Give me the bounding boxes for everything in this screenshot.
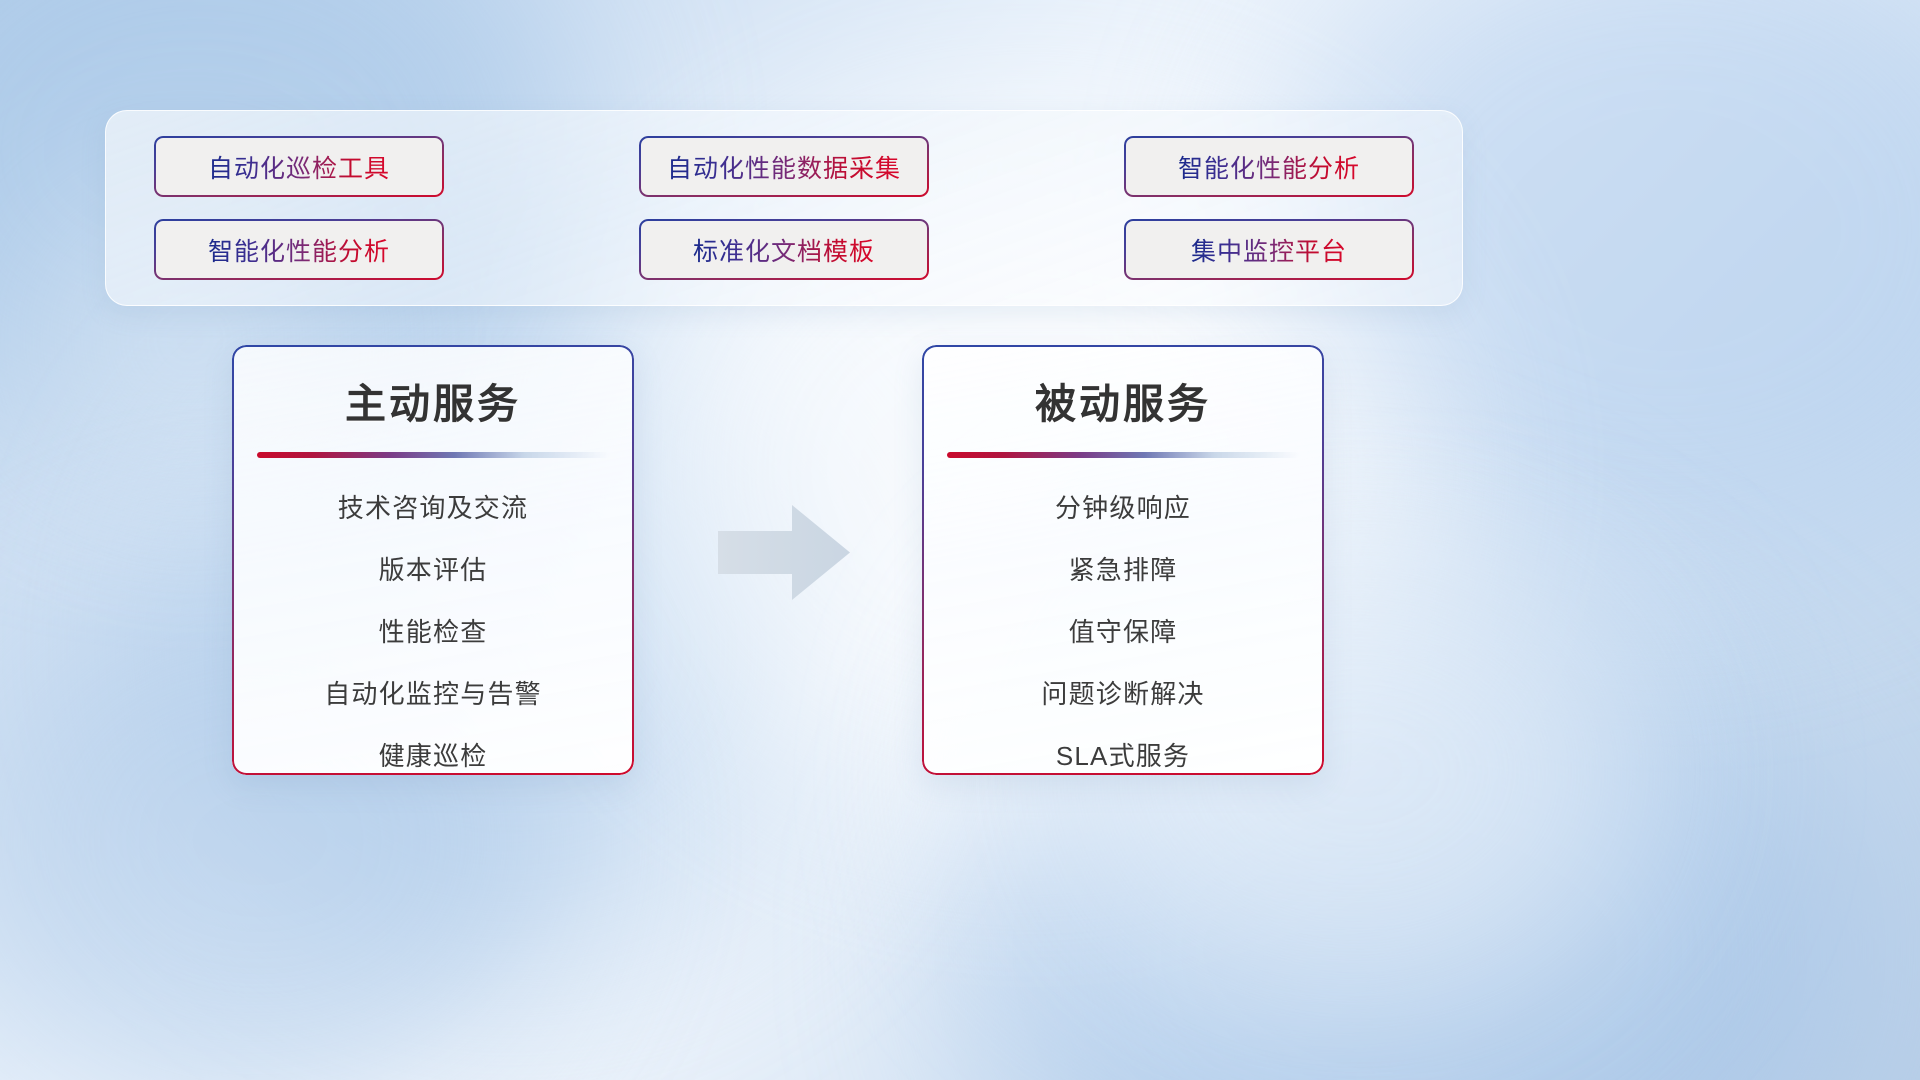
list-item[interactable]: 值守保障	[1069, 612, 1178, 649]
capability-tag-panel: 自动化巡检工具 自动化性能数据采集 智能化性能分析 智能化性能分析 标准化文档模…	[105, 110, 1463, 306]
card-title: 主动服务	[345, 370, 521, 430]
card-item-list: 技术咨询及交流 版本评估 性能检查 自动化监控与告警 健康巡检	[232, 488, 634, 773]
list-item[interactable]: 健康巡检	[379, 736, 488, 773]
card-divider	[257, 452, 609, 458]
tag-button-automated-performance-data-collection[interactable]: 自动化性能数据采集	[639, 136, 929, 197]
tag-button-automation-inspection-tool[interactable]: 自动化巡检工具	[154, 136, 444, 197]
list-item[interactable]: SLA式服务	[1056, 736, 1190, 773]
tag-row-1: 自动化巡检工具 自动化性能数据采集 智能化性能分析	[154, 136, 1414, 197]
tag-label: 自动化巡检工具	[208, 149, 390, 185]
list-item[interactable]: 版本评估	[379, 550, 488, 587]
tag-button-intelligent-performance-analysis[interactable]: 智能化性能分析	[1124, 136, 1414, 197]
list-item[interactable]: 技术咨询及交流	[338, 488, 528, 525]
list-item[interactable]: 自动化监控与告警	[324, 674, 542, 711]
tag-button-standardized-document-template[interactable]: 标准化文档模板	[639, 219, 929, 280]
tag-label: 智能化性能分析	[1178, 149, 1360, 185]
list-item[interactable]: 问题诊断解决	[1041, 674, 1204, 711]
slide-stage: 自动化巡检工具 自动化性能数据采集 智能化性能分析 智能化性能分析 标准化文档模…	[0, 0, 1920, 1080]
card-divider	[947, 452, 1299, 458]
tag-label: 智能化性能分析	[208, 232, 390, 268]
service-card-reactive: 被动服务 分钟级响应 紧急排障 值守保障 问题诊断解决 SLA式服务	[922, 345, 1324, 775]
arrow-right-icon	[718, 505, 850, 600]
list-item[interactable]: 分钟级响应	[1055, 488, 1191, 525]
tag-label: 标准化文档模板	[693, 232, 875, 268]
tag-button-centralized-monitoring-platform[interactable]: 集中监控平台	[1124, 219, 1414, 280]
tag-row-2: 智能化性能分析 标准化文档模板 集中监控平台	[154, 219, 1414, 280]
tag-label: 自动化性能数据采集	[667, 149, 901, 185]
tag-label: 集中监控平台	[1191, 232, 1347, 268]
tag-button-intelligent-performance-analysis-2[interactable]: 智能化性能分析	[154, 219, 444, 280]
card-title: 被动服务	[1035, 370, 1211, 430]
card-item-list: 分钟级响应 紧急排障 值守保障 问题诊断解决 SLA式服务	[922, 488, 1324, 773]
list-item[interactable]: 紧急排障	[1069, 550, 1178, 587]
list-item[interactable]: 性能检查	[379, 612, 488, 649]
service-card-proactive: 主动服务 技术咨询及交流 版本评估 性能检查 自动化监控与告警 健康巡检	[232, 345, 634, 775]
